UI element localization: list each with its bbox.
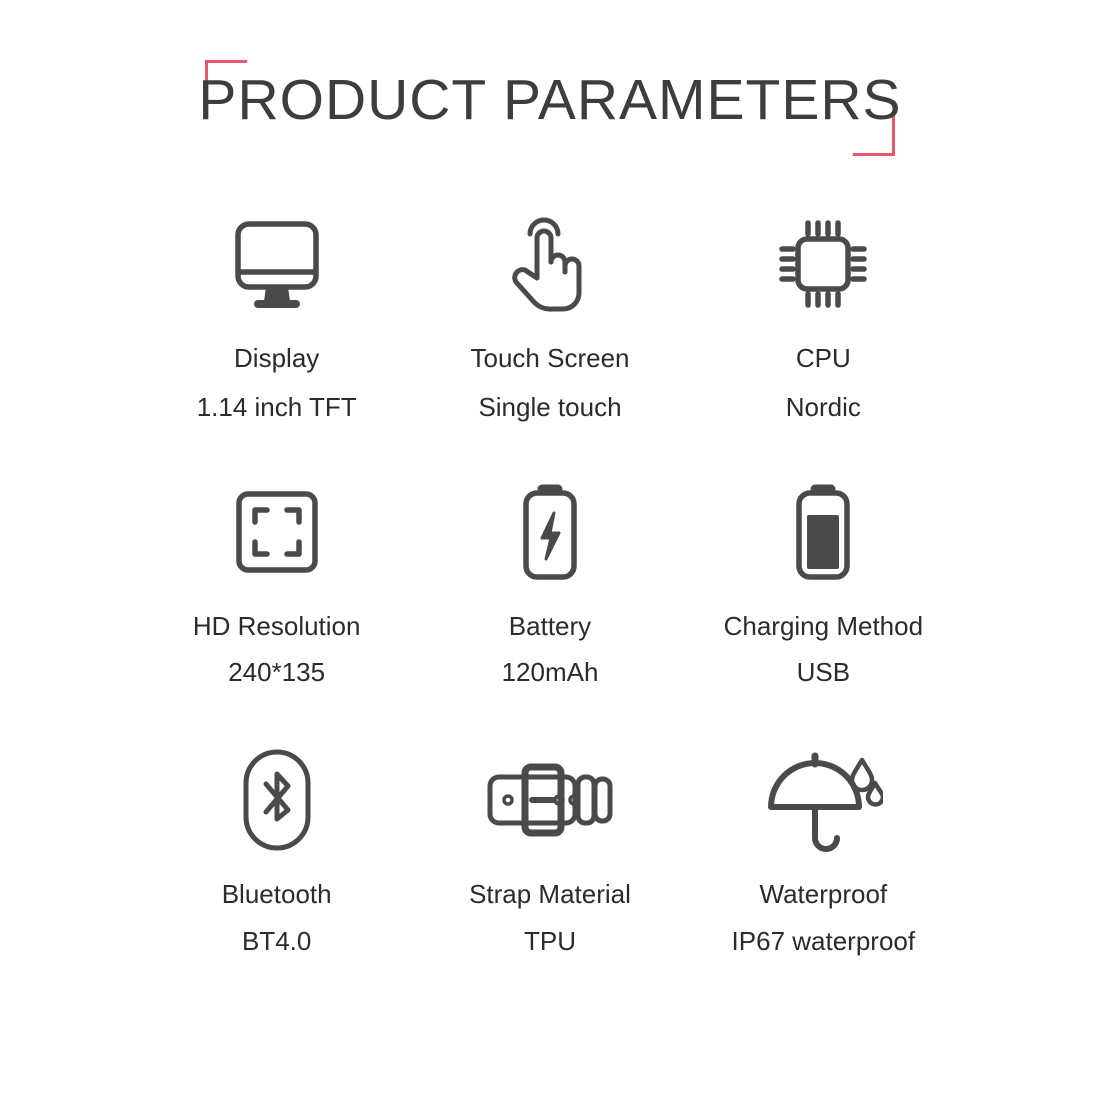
spec-item-hd-resolution: HD Resolution 240*135 xyxy=(140,473,413,741)
spec-title: Charging Method xyxy=(724,613,923,639)
bluetooth-icon xyxy=(240,741,314,859)
spec-value: Nordic xyxy=(786,394,861,420)
spec-item-touch-screen: Touch Screen Single touch xyxy=(413,205,686,473)
spec-value: 240*135 xyxy=(228,659,325,685)
spec-title: Battery xyxy=(509,613,591,639)
spec-value: USB xyxy=(797,659,850,685)
spec-grid: Display 1.14 inch TFT xyxy=(0,205,1100,1009)
spec-title: Bluetooth xyxy=(222,881,332,907)
spec-title: HD Resolution xyxy=(193,613,361,639)
product-parameters-page: PRODUCT PARAMETERS Display 1.14 inch TFT xyxy=(0,0,1100,1100)
page-header: PRODUCT PARAMETERS xyxy=(0,52,1100,162)
watch-strap-buckle-icon xyxy=(485,741,615,859)
resolution-frame-icon xyxy=(233,473,321,591)
spec-title: Display xyxy=(234,345,319,371)
cpu-chip-icon xyxy=(775,205,871,323)
spec-item-strap-material: Strap Material TPU xyxy=(413,741,686,1009)
page-title: PRODUCT PARAMETERS xyxy=(0,52,1100,148)
touch-hand-icon xyxy=(507,205,593,323)
spec-item-waterproof: Waterproof IP67 waterproof xyxy=(687,741,960,1009)
umbrella-raindrops-icon xyxy=(763,741,883,859)
spec-item-charging-method: Charging Method USB xyxy=(687,473,960,741)
spec-title: CPU xyxy=(796,345,851,371)
monitor-icon xyxy=(229,205,325,323)
battery-charged-icon xyxy=(790,473,856,591)
spec-item-bluetooth: Bluetooth BT4.0 xyxy=(140,741,413,1009)
spec-value: IP67 waterproof xyxy=(732,928,916,954)
spec-title: Waterproof xyxy=(760,881,888,907)
spec-title: Touch Screen xyxy=(471,345,630,371)
spec-item-battery: Battery 120mAh xyxy=(413,473,686,741)
spec-title: Strap Material xyxy=(469,881,631,907)
spec-value: TPU xyxy=(524,928,576,954)
spec-value: Single touch xyxy=(478,394,621,420)
spec-item-cpu: CPU Nordic xyxy=(687,205,960,473)
spec-value: 1.14 inch TFT xyxy=(197,394,357,420)
spec-value: 120mAh xyxy=(502,659,599,685)
battery-bolt-icon xyxy=(517,473,583,591)
spec-item-display: Display 1.14 inch TFT xyxy=(140,205,413,473)
spec-value: BT4.0 xyxy=(242,928,311,954)
